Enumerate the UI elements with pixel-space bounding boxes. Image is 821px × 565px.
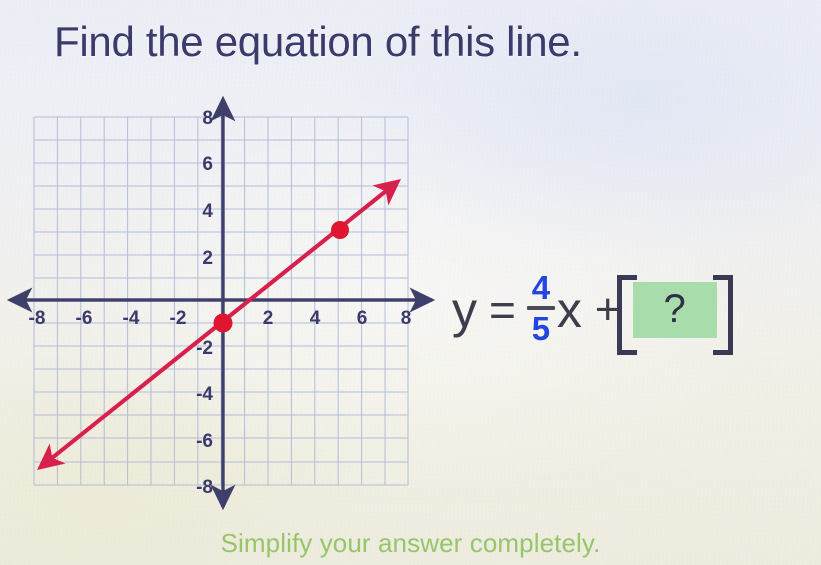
instruction-text: Simplify your answer completely.	[0, 528, 821, 559]
equation-expression: y = 4 5 x + ?	[452, 262, 717, 358]
y-tick-label: 6	[202, 154, 213, 175]
graph-svg: -8 -6 -4 -2 2 4 6 8 8 6 4 2 -2 -4 -6 -8	[0, 92, 440, 517]
y-axis-tick-labels: 8 6 4 2 -2 -4 -6 -8	[196, 108, 213, 498]
y-tick-label: 4	[202, 201, 213, 222]
answer-input-box[interactable]: ?	[633, 282, 717, 338]
bracket-left-icon	[617, 275, 637, 355]
fraction-denominator: 5	[529, 312, 553, 345]
question-mark-placeholder: ?	[663, 289, 685, 329]
y-tick-label: -8	[196, 477, 213, 498]
fraction-numerator: 4	[529, 271, 553, 304]
slope-fraction: 4 5	[527, 271, 555, 345]
y-tick-label: -6	[196, 431, 213, 452]
x-tick-label: 4	[310, 308, 321, 329]
point-y-intercept	[214, 314, 233, 333]
x-tick-label: -6	[76, 308, 93, 329]
y-tick-label: -2	[196, 338, 213, 359]
y-tick-label: 2	[202, 248, 213, 269]
x-tick-label: -2	[170, 308, 187, 329]
page-title: Find the equation of this line.	[54, 18, 582, 66]
equals-sign: =	[489, 283, 516, 337]
y-tick-label: -4	[196, 384, 213, 405]
x-tick-label: 2	[263, 308, 274, 329]
coordinate-graph: -8 -6 -4 -2 2 4 6 8 8 6 4 2 -2 -4 -6 -8	[0, 92, 440, 517]
x-tick-label: -4	[123, 308, 140, 329]
bracket-right-icon	[713, 275, 733, 355]
y-tick-label: 8	[202, 108, 213, 129]
x-tick-label: 6	[357, 308, 368, 329]
point-lattice	[331, 221, 349, 239]
equation-lhs: y	[452, 281, 477, 339]
variable-x: x	[557, 281, 582, 339]
x-tick-label: 8	[401, 308, 412, 329]
x-tick-label: -8	[29, 308, 46, 329]
